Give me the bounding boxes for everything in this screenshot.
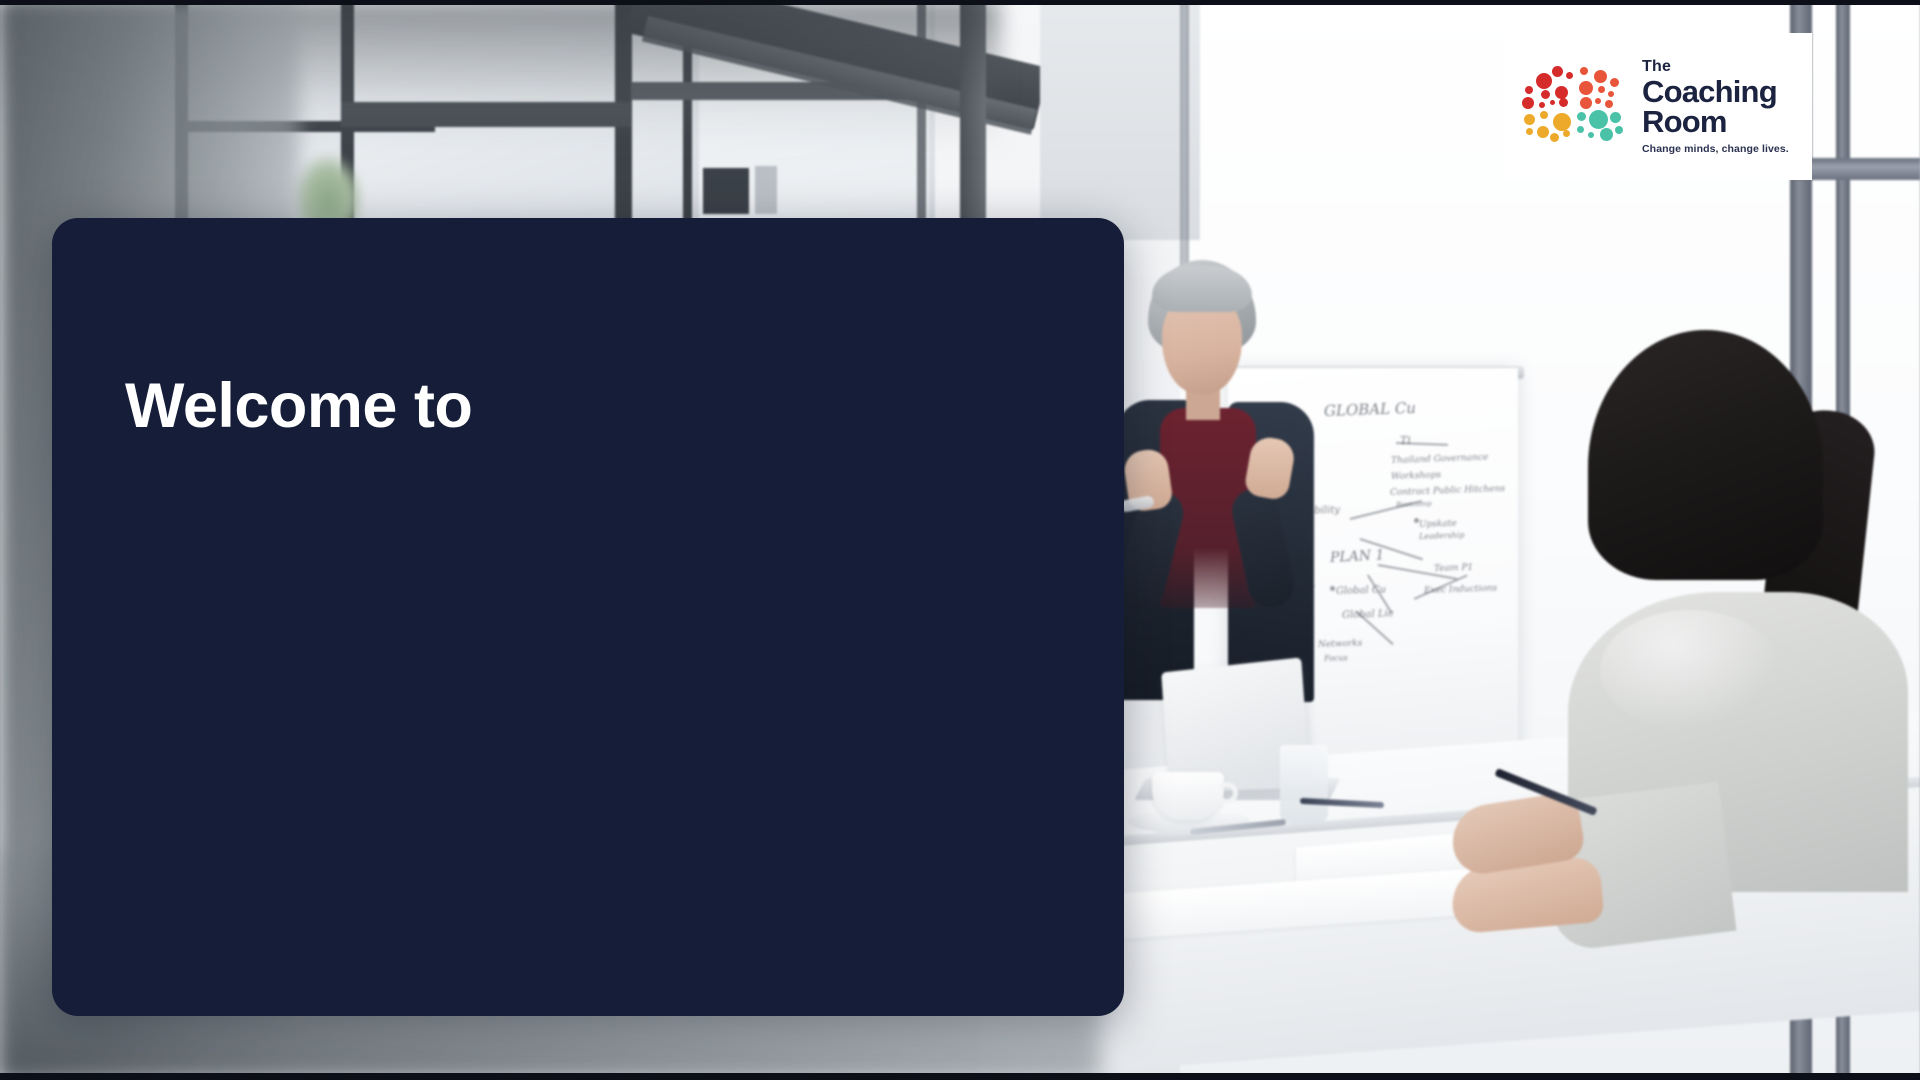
logo-dot: [1610, 78, 1619, 87]
logo-dot: [1598, 86, 1605, 93]
window-detail: [703, 168, 749, 214]
logo-dot: [1563, 130, 1570, 137]
logo-dot: [1550, 100, 1555, 105]
presenter-hair-fringe: [1152, 266, 1252, 312]
logo-dot: [1525, 86, 1533, 94]
page-title: Welcome to: [125, 373, 472, 440]
logo-dot: [1524, 114, 1535, 125]
cup-handle: [1216, 782, 1238, 804]
logo-dot: [1594, 70, 1607, 83]
logo-the-text: The: [1642, 59, 1789, 75]
whiteboard-stroke: [1350, 500, 1422, 519]
participant-shoulder-highlight: [1600, 610, 1780, 730]
logo-dot: [1608, 91, 1614, 97]
logo-dot: [1577, 126, 1584, 133]
logo-dot: [1566, 72, 1573, 79]
logo-dot: [1526, 128, 1533, 135]
logo-dot: [1522, 97, 1534, 109]
logo-line-one: Coaching: [1642, 77, 1789, 107]
logo-dot: [1577, 112, 1586, 121]
logo-dot: [1555, 86, 1568, 99]
logo-dot: [1580, 97, 1592, 109]
coaching-room-dots-icon: [1522, 64, 1630, 150]
logo-dot: [1588, 132, 1594, 138]
logo-dot: [1559, 98, 1568, 107]
logo-dot: [1610, 112, 1621, 123]
logo-dot: [1579, 81, 1593, 95]
drinking-glass: [1280, 745, 1328, 823]
whiteboard-note: Ti: [1400, 434, 1411, 447]
whiteboard-note: Thailand Governance: [1391, 453, 1489, 466]
logo-dot: [1537, 126, 1549, 138]
logo-dot: [1550, 133, 1559, 142]
logo-dot: [1540, 111, 1548, 119]
whiteboard-note: Upskate: [1419, 519, 1457, 530]
logo-dot: [1580, 67, 1588, 75]
whiteboard-note: Contract Public Hitchens: [1390, 484, 1505, 498]
logo-dot: [1539, 102, 1545, 108]
logo-wordmark: The Coaching Room Change minds, change l…: [1642, 59, 1789, 154]
logo-dot: [1589, 110, 1608, 129]
logo-dot: [1615, 126, 1623, 134]
logo-dot: [1536, 73, 1552, 89]
coffee-cup: [1152, 772, 1224, 820]
logo-dot: [1600, 128, 1613, 141]
letterbox-bar-top: [0, 0, 1920, 5]
the-coaching-room-logo[interactable]: The Coaching Room Change minds, change l…: [1504, 33, 1812, 180]
whiteboard-note: Leadership: [1419, 530, 1465, 541]
logo-line-two: Room: [1642, 107, 1789, 137]
window-detail: [755, 166, 777, 214]
presenter-figure: [1100, 260, 1350, 720]
whiteboard-dot: [1414, 518, 1419, 523]
whiteboard-note: Workshops: [1391, 470, 1441, 482]
logo-dot: [1605, 100, 1613, 108]
participant-hair: [1588, 330, 1823, 580]
logo-dot: [1552, 66, 1563, 77]
letterbox-bar-bottom: [0, 1073, 1920, 1080]
logo-tagline: Change minds, change lives.: [1642, 144, 1789, 155]
logo-dot: [1553, 113, 1571, 131]
title-card: Welcome to: [52, 218, 1124, 1016]
interior-wall: [1040, 0, 1200, 240]
whiteboard-note: Team P1: [1434, 563, 1474, 574]
logo-dot: [1541, 90, 1550, 99]
logo-dot: [1595, 98, 1601, 104]
slide-stage: GLOBAL CuTiThailand GovernanceWorkshopsC…: [0, 0, 1920, 1080]
